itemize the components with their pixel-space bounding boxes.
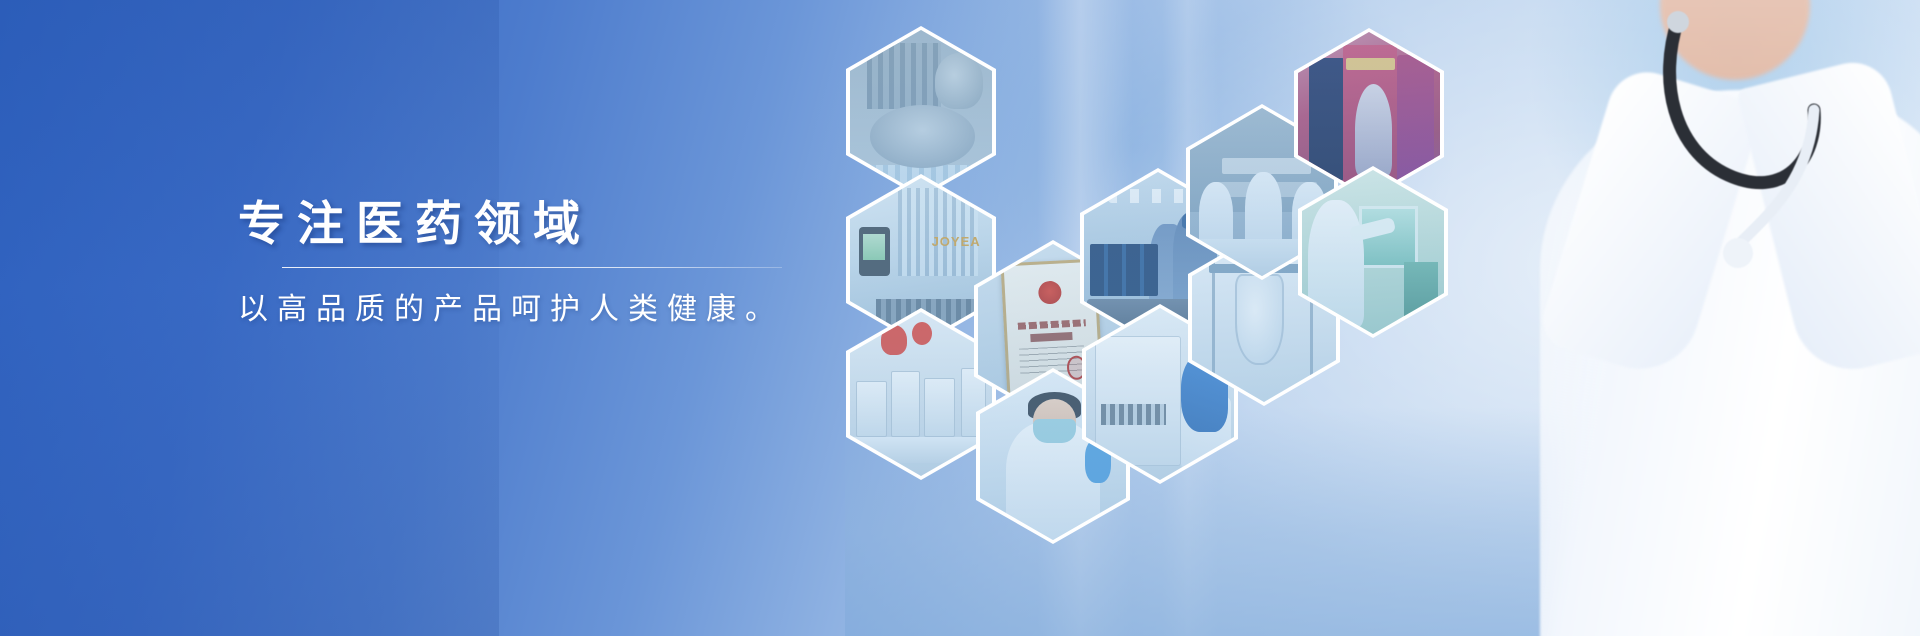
hex-tile-gc-lab-instruments[interactable] — [846, 308, 996, 480]
page-subtitle: 以高品质的产品呵护人类健康。 — [238, 290, 858, 329]
title-divider — [282, 267, 782, 268]
banner-copy: 专注医药领域 以高品质的产品呵护人类健康。 — [238, 196, 858, 329]
stethoscope-icon — [1618, 10, 1868, 310]
hero-banner: 专注医药领域 以高品质的产品呵护人类健康。 JOYEA — [0, 0, 1920, 636]
page-title: 专注医药领域 — [238, 196, 858, 251]
hexagon-photo-collage: JOYEA — [828, 8, 1468, 528]
hex-tile-capsule-filling-machine[interactable] — [846, 26, 996, 198]
doctor-figure — [1500, 0, 1920, 636]
